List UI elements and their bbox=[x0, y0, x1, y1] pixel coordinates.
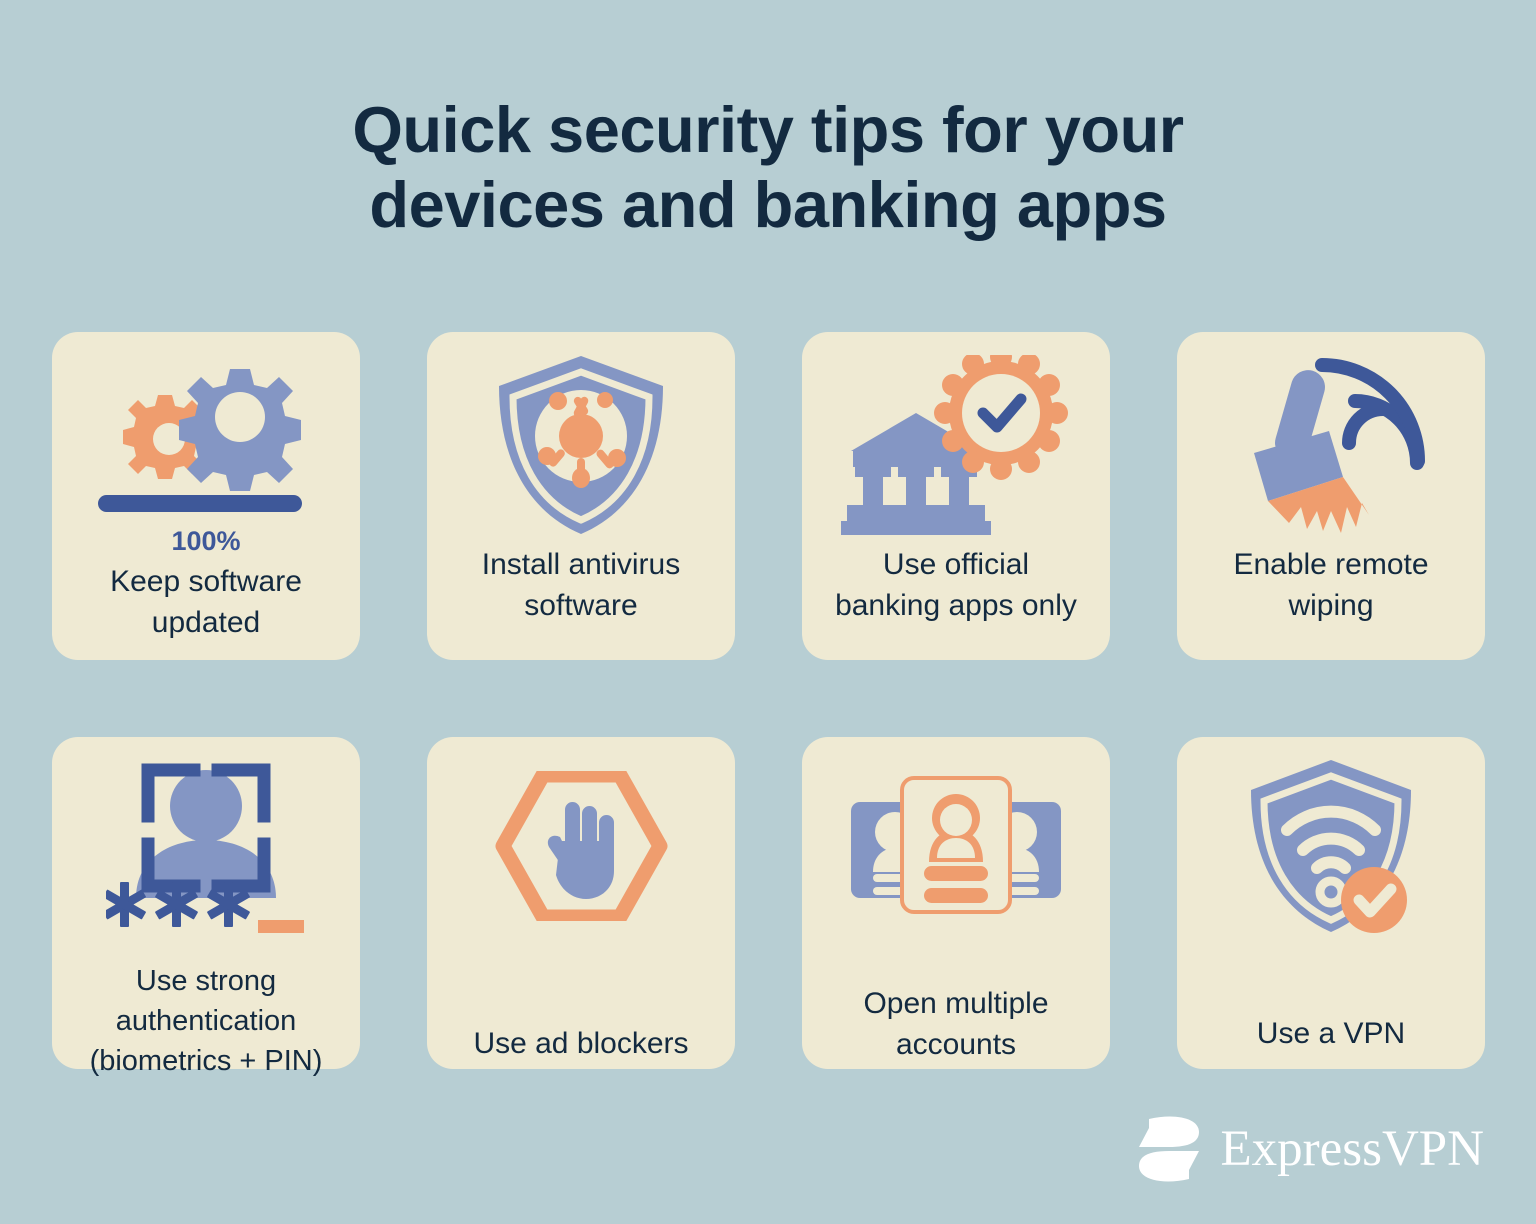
expressvpn-wordmark: ExpressVPN bbox=[1221, 1124, 1485, 1175]
broom-wireless-icon bbox=[1177, 332, 1485, 540]
tip-card-label-line-2: authentication bbox=[116, 1005, 297, 1037]
face-scan-pin-icon bbox=[52, 737, 360, 937]
tip-card-label-line-1: Enable remote bbox=[1233, 548, 1428, 581]
tip-card-label-line-2: banking apps only bbox=[835, 589, 1077, 622]
tip-card-label-line-1: Use strong bbox=[136, 965, 276, 997]
tip-card-label-line-1: Use official bbox=[883, 548, 1029, 581]
tip-card-label-line-1: Keep software bbox=[110, 565, 302, 598]
tip-card-enable-remote-wiping: Enable remote wiping bbox=[1177, 332, 1485, 660]
tip-card-label-line-3: (biometrics + PIN) bbox=[90, 1045, 323, 1077]
expressvpn-e-mark bbox=[1133, 1116, 1205, 1182]
page-title-line-1: Quick security tips for your bbox=[0, 92, 1536, 167]
tip-card-label-line-2: software bbox=[524, 589, 637, 622]
tip-card-use-a-vpn: Use a VPN bbox=[1177, 737, 1485, 1069]
tip-card-label: Use strong authentication (biometrics + … bbox=[52, 961, 360, 1081]
tip-card-label-line-1: Use ad blockers bbox=[473, 1027, 688, 1060]
tip-card-use-official-banking-apps-only: Use official banking apps only bbox=[802, 332, 1110, 660]
shield-virus-icon bbox=[427, 332, 735, 540]
tip-card-label-line-1: Use a VPN bbox=[1257, 1017, 1405, 1050]
page-title-line-2: devices and banking apps bbox=[0, 167, 1536, 242]
tip-card-label-line-2: accounts bbox=[896, 1028, 1016, 1061]
tip-card-install-antivirus-software: Install antivirus software bbox=[427, 332, 735, 660]
hand-stop-hexagon-icon bbox=[427, 737, 735, 937]
tip-card-label-line-2: updated bbox=[152, 606, 260, 639]
gears-progress-icon bbox=[52, 332, 360, 540]
tip-card-label: Use a VPN bbox=[1177, 1013, 1485, 1054]
tip-card-label-line-1: Open multiple bbox=[863, 987, 1048, 1020]
tip-card-label: Use official banking apps only bbox=[802, 544, 1110, 627]
bank-verified-badge-icon bbox=[802, 332, 1110, 540]
tip-card-label: Keep software updated bbox=[52, 561, 360, 644]
tip-card-open-multiple-accounts: Open multiple accounts bbox=[802, 737, 1110, 1069]
tips-grid: 100% Keep software updated bbox=[52, 332, 1484, 1069]
tip-card-keep-software-updated: 100% Keep software updated bbox=[52, 332, 360, 660]
shield-wifi-check-icon bbox=[1177, 737, 1485, 937]
tip-card-use-strong-authentication: Use strong authentication (biometrics + … bbox=[52, 737, 360, 1069]
page-title: Quick security tips for your devices and… bbox=[0, 92, 1536, 243]
tip-card-label: Use ad blockers bbox=[427, 1023, 735, 1064]
tip-card-label-line-1: Install antivirus bbox=[482, 548, 680, 581]
expressvpn-logo: ExpressVPN bbox=[1133, 1116, 1485, 1182]
tip-card-label: Enable remote wiping bbox=[1177, 544, 1485, 627]
infographic-page: Quick security tips for your devices and… bbox=[0, 0, 1536, 1224]
tip-card-label: Open multiple accounts bbox=[802, 983, 1110, 1066]
tip-card-label: Install antivirus software bbox=[427, 544, 735, 627]
multiple-id-cards-icon bbox=[802, 737, 1110, 937]
tip-card-label-line-2: wiping bbox=[1288, 589, 1373, 622]
tip-card-use-ad-blockers: Use ad blockers bbox=[427, 737, 735, 1069]
progress-value-label: 100% bbox=[171, 526, 240, 557]
